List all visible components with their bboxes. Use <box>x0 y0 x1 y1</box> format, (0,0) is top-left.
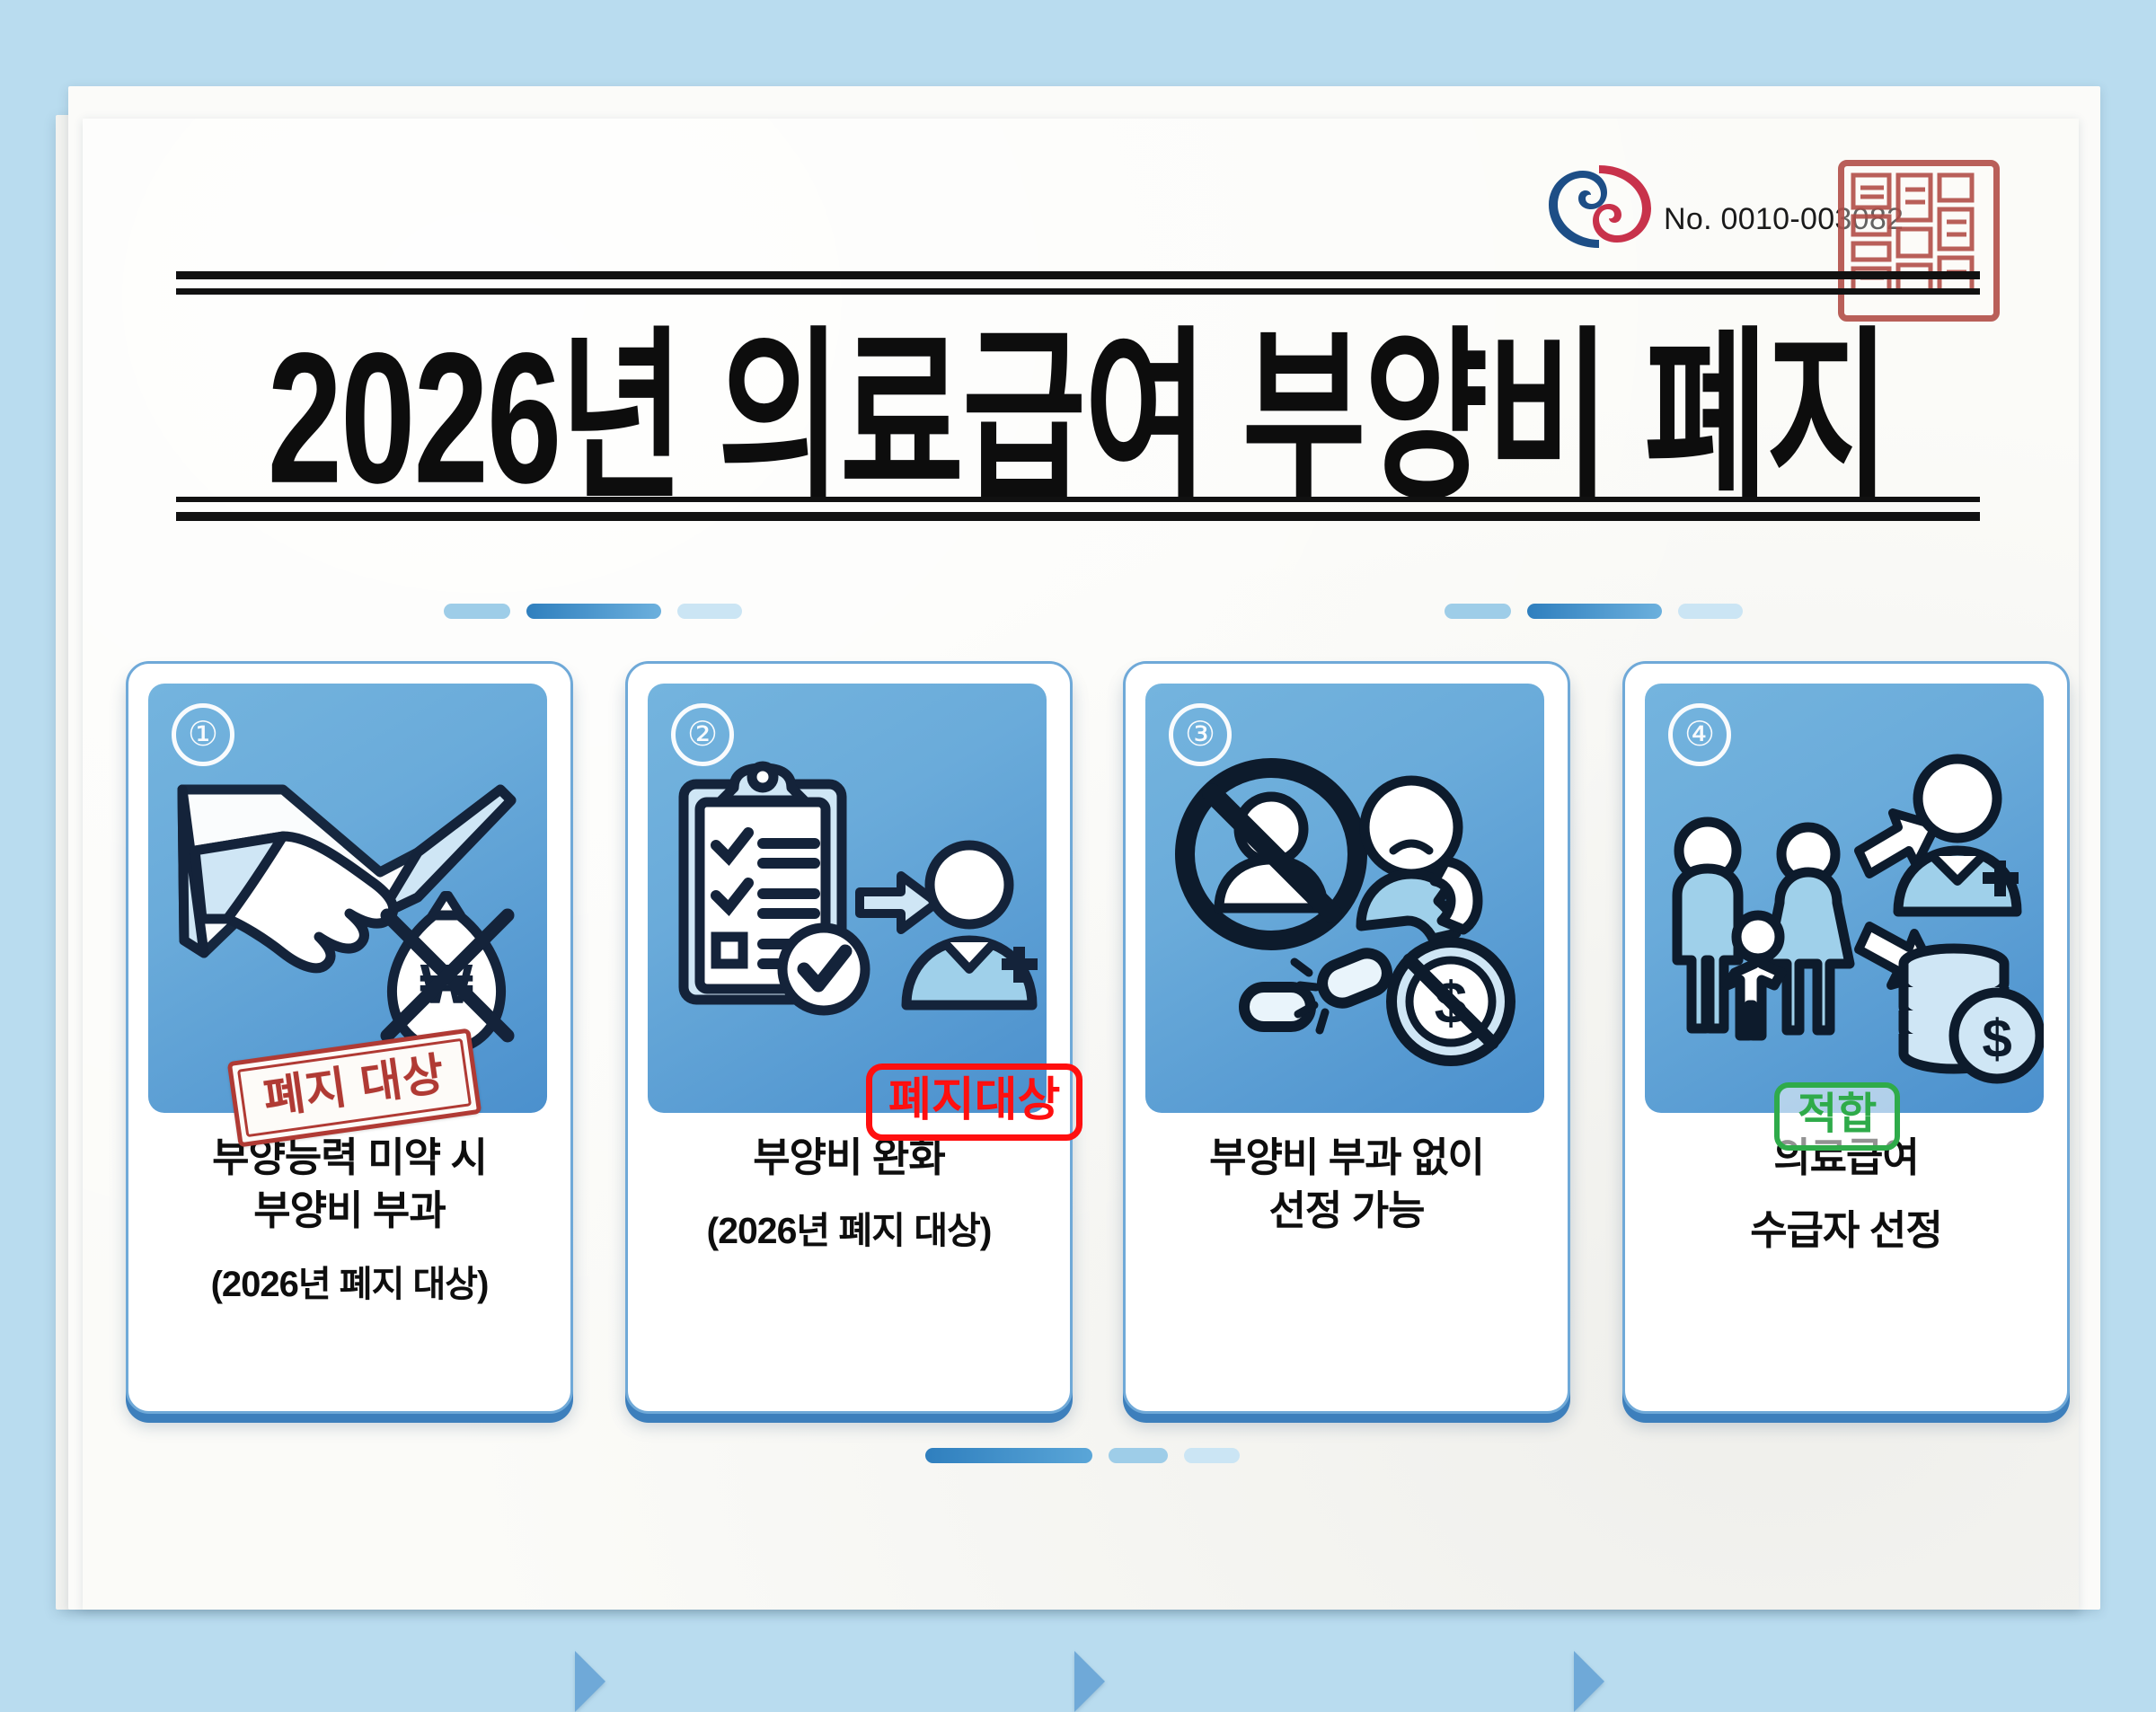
flow-card-4[interactable]: $ ④ 의료급여 수급자 선정 <box>1622 661 2070 1414</box>
dash-bar <box>444 604 510 619</box>
infographic-poster: No. 0010-003082 <box>0 0 2156 1610</box>
dash-bar <box>1109 1448 1168 1463</box>
title-rule-bottom <box>176 497 1980 521</box>
chevron-right-icon-1 <box>575 1651 605 1712</box>
worried-person <box>1361 781 1478 939</box>
card-3-caption-line2: 선정 가능 <box>1140 1184 1553 1237</box>
card-3-number-badge: ③ <box>1169 703 1232 766</box>
dash-bar <box>1445 604 1511 619</box>
card-2-abolition-badge: 폐지대상 <box>866 1063 1082 1141</box>
card-1-caption-line1: 부양능력 미약 시 <box>143 1131 556 1184</box>
broken-chain <box>1244 948 1393 1030</box>
dash-group-top-left <box>444 604 742 619</box>
card-1-number-badge: ① <box>172 703 234 766</box>
card-4-number-badge: ④ <box>1668 703 1731 766</box>
dash-bar <box>1527 604 1662 619</box>
money-bag-crossed: ₩ <box>387 896 508 1050</box>
flow-card-2[interactable]: ② 부양비 완화 (2026년 폐지 대상) <box>625 661 1073 1414</box>
dash-bar <box>677 604 742 619</box>
no-money-coin: $ <box>1392 942 1510 1061</box>
card-4-eligible-badge: 적합 <box>1774 1082 1900 1151</box>
dash-group-top-right <box>1445 604 1743 619</box>
card-2-image: ② <box>648 684 1047 1113</box>
dash-bar <box>1678 604 1743 619</box>
card-2-number-badge: ② <box>671 703 734 766</box>
card-2-caption: 부양비 완화 (2026년 폐지 대상) <box>642 1131 1056 1256</box>
card-3-caption-line1: 부양비 부과 없이 <box>1140 1131 1553 1184</box>
chevron-right-icon-2 <box>1074 1651 1105 1712</box>
page-title: 2026년 의료급여 부양비 폐지 <box>176 284 1980 519</box>
dash-group-bottom <box>925 1448 1240 1463</box>
card-1-caption-sub: (2026년 폐지 대상) <box>143 1261 556 1308</box>
card-1-caption: 부양능력 미약 시 부양비 부과 (2026년 폐지 대상) <box>143 1131 556 1308</box>
chevron-right-icon-3 <box>1574 1651 1604 1712</box>
dash-bar <box>1184 1448 1240 1463</box>
svg-text:$: $ <box>1982 1009 2011 1069</box>
card-3-caption: 부양비 부과 없이 선정 가능 <box>1140 1131 1553 1238</box>
card-2-caption-sub: (2026년 폐지 대상) <box>642 1207 1056 1255</box>
card-1-caption-line2: 부양비 부과 <box>143 1184 556 1237</box>
card-3-image: $ ③ <box>1145 684 1544 1113</box>
korea-government-taegeuk-emblem-icon <box>1543 160 1658 253</box>
dash-bar <box>526 604 661 619</box>
card-4-image: $ ④ <box>1645 684 2044 1113</box>
no-person-symbol <box>1185 768 1357 940</box>
flow-card-1[interactable]: ₩ ① 부양능력 미약 시 부양비 부과 (2026년 폐지 대상) <box>126 661 573 1414</box>
card-4-caption-line2: 수급자 선정 <box>1639 1204 2053 1257</box>
dash-bar <box>925 1448 1092 1463</box>
flow-card-3[interactable]: $ ③ 부양비 부과 없이 선정 가능 <box>1123 661 1570 1414</box>
